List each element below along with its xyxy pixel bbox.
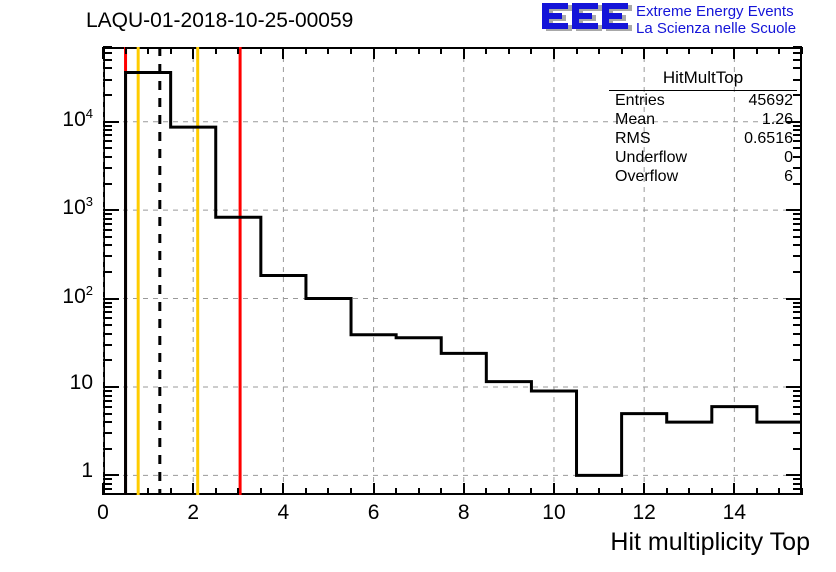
x-tick-minor bbox=[327, 488, 329, 495]
y-tick-minor bbox=[103, 59, 112, 61]
x-tick-major-top bbox=[192, 47, 194, 59]
y-tick-minor-right bbox=[793, 46, 802, 48]
x-tick-minor-top bbox=[395, 47, 397, 54]
y-tick-minor-right bbox=[793, 311, 802, 313]
x-tick-minor bbox=[305, 488, 307, 495]
y-tick-label: 10 bbox=[15, 371, 93, 395]
x-axis-title: Hit multiplicity Top bbox=[610, 528, 810, 557]
stats-row: Entries45692 bbox=[609, 91, 797, 110]
y-tick-minor bbox=[103, 129, 112, 131]
y-tick-minor bbox=[103, 213, 112, 215]
x-tick-minor-top bbox=[485, 47, 487, 54]
y-tick-major bbox=[103, 209, 119, 211]
y-tick-minor bbox=[103, 406, 112, 408]
y-tick-minor bbox=[103, 236, 112, 238]
x-tick-label: 12 bbox=[614, 501, 674, 525]
x-tick-minor bbox=[530, 488, 532, 495]
y-tick-major-right bbox=[786, 209, 802, 211]
stats-row-key: Overflow bbox=[615, 168, 678, 186]
y-tick-major-right bbox=[786, 386, 802, 388]
x-tick-label: 6 bbox=[344, 501, 404, 525]
y-tick-minor-right bbox=[793, 236, 802, 238]
y-tick-minor-right bbox=[793, 344, 802, 346]
x-tick-minor-top bbox=[508, 47, 510, 54]
y-tick-minor-right bbox=[793, 478, 802, 480]
page-title: LAQU-01-2018-10-25-00059 bbox=[86, 9, 353, 33]
x-tick-major bbox=[463, 483, 465, 495]
x-tick-minor-top bbox=[418, 47, 420, 54]
x-tick-minor-top bbox=[576, 47, 578, 54]
stats-row-key: Entries bbox=[615, 92, 665, 110]
y-tick-minor bbox=[103, 478, 112, 480]
x-tick-minor-top bbox=[440, 47, 442, 54]
y-tick-minor bbox=[103, 218, 112, 220]
x-tick-major bbox=[373, 483, 375, 495]
stats-row: RMS0.6516 bbox=[609, 129, 797, 148]
x-tick-label: 2 bbox=[163, 501, 223, 525]
y-tick-major-right bbox=[786, 298, 802, 300]
x-tick-minor-top bbox=[756, 47, 758, 54]
x-tick-major-top bbox=[463, 47, 465, 59]
y-tick-minor-right bbox=[793, 302, 802, 304]
y-tick-minor bbox=[103, 317, 112, 319]
y-tick-minor bbox=[103, 147, 112, 149]
stats-row-value: 0.6516 bbox=[744, 130, 793, 148]
y-tick-minor bbox=[103, 183, 112, 185]
y-tick-minor bbox=[103, 244, 112, 246]
y-tick-minor-right bbox=[793, 395, 802, 397]
y-tick-label: 102 bbox=[15, 283, 93, 309]
stats-row-key: RMS bbox=[615, 130, 651, 148]
x-tick-major-top bbox=[643, 47, 645, 59]
x-tick-minor bbox=[576, 488, 578, 495]
y-tick-minor bbox=[103, 448, 112, 450]
x-tick-minor-top bbox=[530, 47, 532, 54]
stats-rows: Entries45692Mean1.26RMS0.6516Underflow0O… bbox=[609, 91, 797, 186]
y-tick-minor-right bbox=[793, 306, 802, 308]
y-tick-minor bbox=[103, 156, 112, 158]
x-tick-minor-top bbox=[711, 47, 713, 54]
stats-row: Underflow0 bbox=[609, 148, 797, 167]
x-tick-minor bbox=[170, 488, 172, 495]
y-tick-major bbox=[103, 298, 119, 300]
x-tick-minor bbox=[688, 488, 690, 495]
y-tick-minor bbox=[103, 421, 112, 423]
x-tick-minor-top bbox=[688, 47, 690, 54]
y-tick-minor bbox=[103, 223, 112, 225]
x-tick-minor bbox=[485, 488, 487, 495]
x-tick-major-top bbox=[373, 47, 375, 59]
x-tick-minor bbox=[711, 488, 713, 495]
x-tick-minor bbox=[237, 488, 239, 495]
x-tick-minor bbox=[350, 488, 352, 495]
x-tick-minor-top bbox=[350, 47, 352, 54]
x-tick-label: 14 bbox=[704, 501, 764, 525]
x-tick-major bbox=[643, 483, 645, 495]
x-tick-major bbox=[553, 483, 555, 495]
y-tick-minor-right bbox=[793, 406, 802, 408]
y-tick-minor bbox=[103, 46, 112, 48]
x-tick-minor bbox=[621, 488, 623, 495]
y-tick-minor bbox=[103, 167, 112, 169]
y-tick-minor-right bbox=[793, 413, 802, 415]
y-tick-minor-right bbox=[793, 213, 802, 215]
y-tick-minor bbox=[103, 395, 112, 397]
x-tick-minor bbox=[508, 488, 510, 495]
x-tick-major bbox=[733, 483, 735, 495]
x-tick-minor bbox=[778, 488, 780, 495]
y-tick-minor-right bbox=[793, 324, 802, 326]
y-tick-minor-right bbox=[793, 421, 802, 423]
x-tick-minor bbox=[666, 488, 668, 495]
y-tick-minor bbox=[103, 255, 112, 257]
x-tick-minor-top bbox=[621, 47, 623, 54]
eee-logo-line1: Extreme Energy Events bbox=[636, 3, 796, 20]
y-tick-minor bbox=[103, 67, 112, 69]
y-tick-major bbox=[103, 386, 119, 388]
y-tick-minor-right bbox=[793, 271, 802, 273]
y-tick-minor bbox=[103, 359, 112, 361]
y-tick-minor bbox=[103, 125, 112, 127]
x-tick-minor-top bbox=[260, 47, 262, 54]
y-tick-minor-right bbox=[793, 448, 802, 450]
x-tick-minor bbox=[395, 488, 397, 495]
x-tick-minor-top bbox=[215, 47, 217, 54]
stats-box: HitMultTop Entries45692Mean1.26RMS0.6516… bbox=[609, 68, 797, 186]
y-tick-minor bbox=[103, 229, 112, 231]
y-tick-minor-right bbox=[793, 333, 802, 335]
x-tick-minor bbox=[125, 488, 127, 495]
y-tick-minor bbox=[103, 432, 112, 434]
y-tick-minor-right bbox=[793, 359, 802, 361]
x-tick-minor bbox=[756, 488, 758, 495]
x-tick-major-top bbox=[553, 47, 555, 59]
y-tick-minor bbox=[103, 483, 112, 485]
x-tick-minor-top bbox=[598, 47, 600, 54]
stats-row: Overflow6 bbox=[609, 167, 797, 186]
y-tick-minor-right bbox=[793, 432, 802, 434]
y-tick-minor bbox=[103, 400, 112, 402]
x-tick-minor-top bbox=[778, 47, 780, 54]
y-tick-minor-right bbox=[793, 223, 802, 225]
stats-row-value: 6 bbox=[784, 168, 793, 186]
y-tick-minor-right bbox=[793, 255, 802, 257]
y-tick-minor bbox=[103, 79, 112, 81]
y-tick-major bbox=[103, 474, 119, 476]
stats-row-value: 45692 bbox=[749, 92, 794, 110]
y-tick-minor bbox=[103, 306, 112, 308]
stats-row-key: Mean bbox=[615, 111, 655, 129]
stats-title: HitMultTop bbox=[609, 68, 797, 91]
x-tick-label: 0 bbox=[73, 501, 133, 525]
y-tick-minor-right bbox=[793, 52, 802, 54]
y-tick-major-right bbox=[786, 474, 802, 476]
x-tick-minor-top bbox=[237, 47, 239, 54]
x-tick-minor-top bbox=[125, 47, 127, 54]
x-tick-major bbox=[192, 483, 194, 495]
y-tick-label: 104 bbox=[15, 106, 93, 132]
y-tick-minor-right bbox=[793, 483, 802, 485]
x-tick-minor-top bbox=[327, 47, 329, 54]
y-tick-minor-right bbox=[793, 218, 802, 220]
stats-row-key: Underflow bbox=[615, 149, 687, 167]
y-tick-minor-right bbox=[793, 244, 802, 246]
y-tick-minor bbox=[103, 324, 112, 326]
y-tick-minor bbox=[103, 344, 112, 346]
x-tick-minor bbox=[147, 488, 149, 495]
y-tick-minor-right bbox=[793, 317, 802, 319]
x-tick-minor-top bbox=[147, 47, 149, 54]
y-tick-minor bbox=[103, 333, 112, 335]
y-tick-minor bbox=[103, 94, 112, 96]
eee-logo-line2: La Scienza nelle Scuole bbox=[636, 20, 796, 37]
x-tick-minor-top bbox=[666, 47, 668, 54]
y-tick-minor-right bbox=[793, 229, 802, 231]
stats-row-value: 0 bbox=[784, 149, 793, 167]
y-tick-minor bbox=[103, 52, 112, 54]
x-tick-minor bbox=[598, 488, 600, 495]
y-tick-label: 1 bbox=[15, 459, 93, 483]
root-canvas: LAQU-01-2018-10-25-00059 bbox=[0, 0, 836, 572]
y-tick-minor bbox=[103, 311, 112, 313]
y-tick-label: 103 bbox=[15, 194, 93, 220]
y-tick-minor bbox=[103, 390, 112, 392]
eee-logo-mark bbox=[540, 2, 632, 36]
y-tick-minor bbox=[103, 413, 112, 415]
x-tick-minor bbox=[260, 488, 262, 495]
x-tick-minor bbox=[418, 488, 420, 495]
stats-row: Mean1.26 bbox=[609, 110, 797, 129]
marker-lines bbox=[126, 47, 241, 495]
y-tick-minor-right bbox=[793, 488, 802, 490]
y-tick-minor bbox=[103, 140, 112, 142]
x-tick-minor-top bbox=[170, 47, 172, 54]
eee-logo: Extreme Energy Events La Scienza nelle S… bbox=[540, 2, 832, 42]
y-tick-minor bbox=[103, 271, 112, 273]
y-tick-minor-right bbox=[793, 59, 802, 61]
x-tick-minor bbox=[440, 488, 442, 495]
y-tick-major bbox=[103, 121, 119, 123]
x-tick-major bbox=[282, 483, 284, 495]
stats-row-value: 1.26 bbox=[762, 111, 793, 129]
y-tick-minor-right bbox=[793, 390, 802, 392]
y-tick-minor-right bbox=[793, 400, 802, 402]
x-tick-minor-top bbox=[305, 47, 307, 54]
x-tick-label: 4 bbox=[253, 501, 313, 525]
x-tick-label: 10 bbox=[524, 501, 584, 525]
y-tick-minor bbox=[103, 488, 112, 490]
x-tick-major-top bbox=[733, 47, 735, 59]
y-tick-minor bbox=[103, 134, 112, 136]
x-tick-major-top bbox=[282, 47, 284, 59]
x-tick-minor bbox=[215, 488, 217, 495]
x-tick-label: 8 bbox=[434, 501, 494, 525]
y-tick-minor bbox=[103, 302, 112, 304]
